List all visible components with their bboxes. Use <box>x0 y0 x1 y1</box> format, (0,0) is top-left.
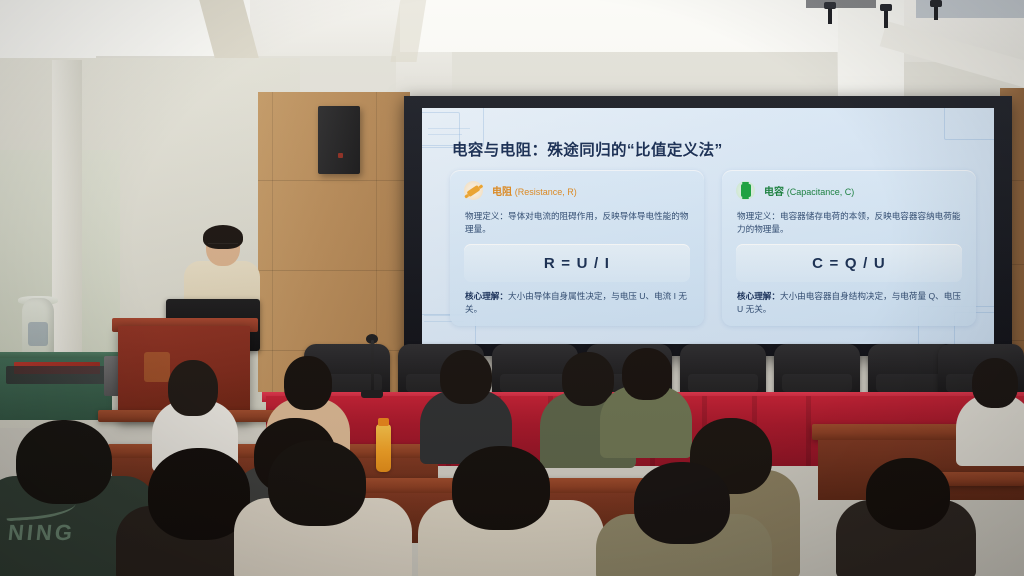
card-capacitance-header: 电容 (Capacitance, C) <box>736 181 854 200</box>
speaker-led-icon <box>338 153 343 158</box>
concept-cards: 电阻 (Resistance, R) 物理定义：导体对电流的阻碍作用，反映导体导… <box>450 170 976 326</box>
card-capacitance-core: 核心理解：大小由电容器自身结构决定，与电荷量 Q、电压 U 无关。 <box>737 290 962 317</box>
slide-title: 电容与电阻：殊途同归的“比值定义法” <box>452 138 974 160</box>
card-capacitance-formula: C = Q / U <box>812 255 886 272</box>
card-capacitance-definition: 物理定义：电容器储存电荷的本领，反映电容器容纳电荷能力的物理量。 <box>737 210 962 237</box>
presentation-slide: 电容与电阻：殊途同归的“比值定义法” 电阻 (Resistance, R) <box>422 108 994 344</box>
lecture-hall-scene: 电容与电阻：殊途同归的“比值定义法” 电阻 (Resistance, R) <box>0 0 1024 576</box>
wall-column <box>52 60 82 390</box>
card-capacitance-title: 电容 (Capacitance, C) <box>764 183 854 198</box>
wall-speaker <box>318 106 360 174</box>
microphone-base <box>361 390 383 398</box>
podium-emblem <box>144 352 170 382</box>
brand-text: NING <box>7 520 77 546</box>
decorative-vase <box>22 298 54 360</box>
card-resistance-formula: R = U / I <box>544 255 610 272</box>
card-resistance-title: 电阻 (Resistance, R) <box>492 183 577 198</box>
resistor-icon <box>464 181 483 200</box>
led-display-screen: 电容与电阻：殊途同归的“比值定义法” 电阻 (Resistance, R) <box>404 96 1012 356</box>
card-capacitance: 电容 (Capacitance, C) 物理定义：电容器储存电荷的本领，反映电容… <box>722 170 976 326</box>
card-resistance-formula-box: R = U / I <box>464 244 690 282</box>
card-resistance-core: 核心理解：大小由导体自身属性决定，与电压 U、电流 I 无关。 <box>465 290 690 317</box>
equipment-clutter <box>6 366 114 384</box>
card-resistance-definition: 物理定义：导体对电流的阻碍作用，反映导体导电性能的物理量。 <box>465 210 690 237</box>
card-resistance: 电阻 (Resistance, R) 物理定义：导体对电流的阻碍作用，反映导体导… <box>450 170 704 326</box>
card-capacitance-formula-box: C = Q / U <box>736 244 962 282</box>
orange-drink-bottle <box>376 424 391 472</box>
card-resistance-header: 电阻 (Resistance, R) <box>464 181 577 200</box>
spotlight-icon <box>880 4 892 11</box>
spotlight-icon <box>930 0 942 7</box>
glasses-icon <box>208 243 238 251</box>
room-background: 电容与电阻：殊途同归的“比值定义法” 电阻 (Resistance, R) <box>0 0 1024 576</box>
capacitor-icon <box>736 181 755 200</box>
bottle-cap <box>378 418 389 426</box>
gooseneck-microphone <box>371 340 374 396</box>
